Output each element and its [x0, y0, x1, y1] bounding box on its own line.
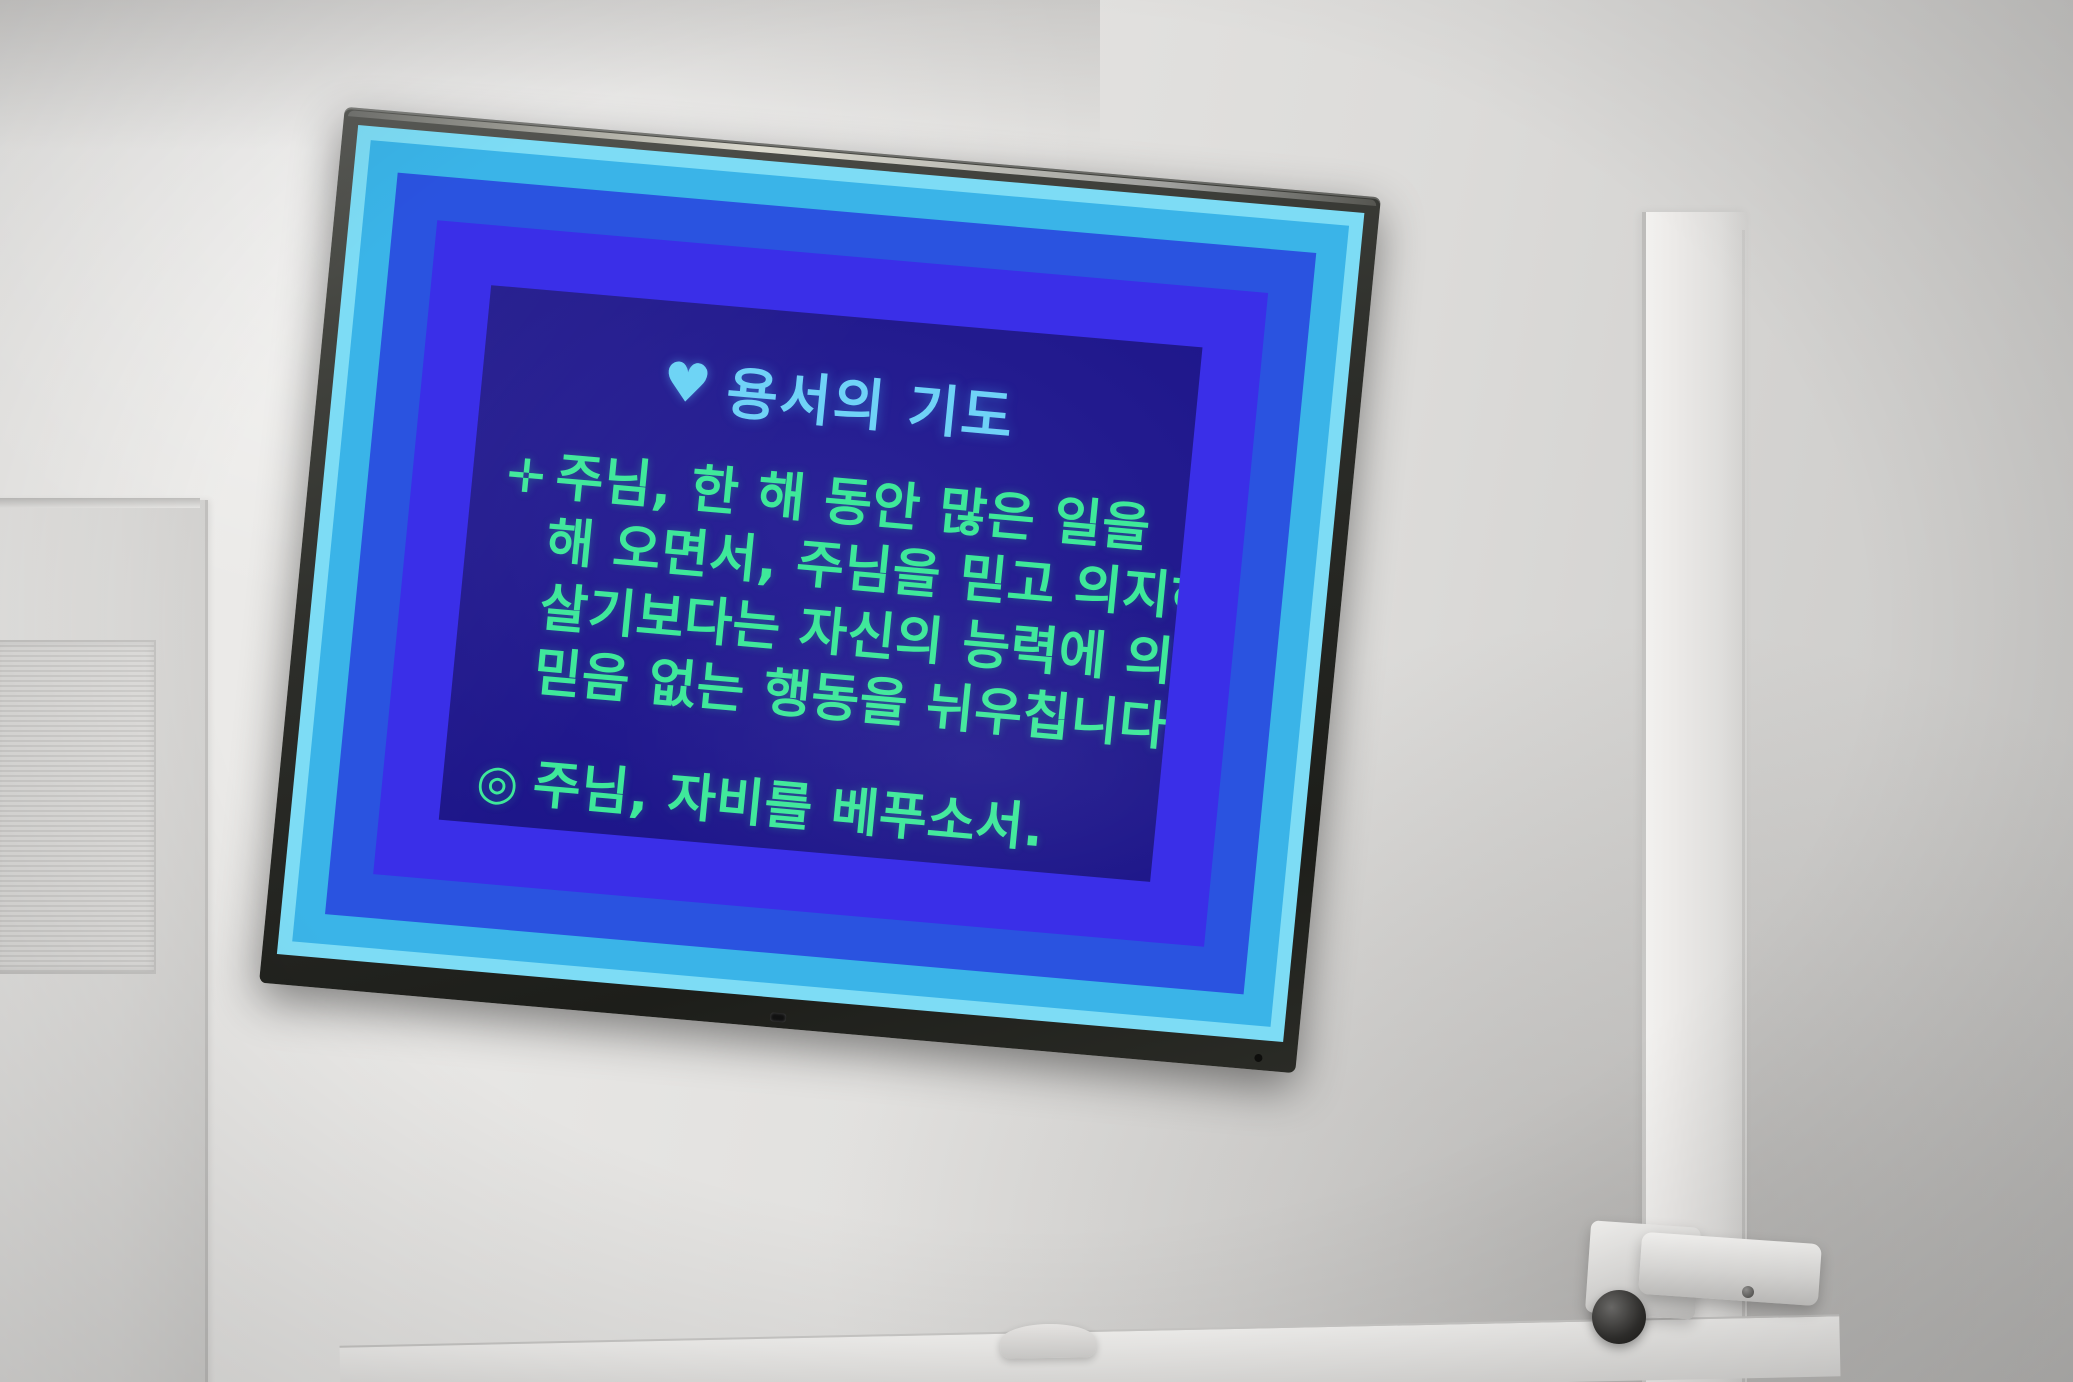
wall-mount-pivot-joint: [1592, 1290, 1646, 1344]
wall-vent-grille: [0, 640, 156, 974]
right-wall-column-seam: [1642, 212, 1646, 1382]
slide-border-inner: ♥ 용서의 기도 ✛ 주님, 한 해 동안 많은 일을: [325, 173, 1316, 995]
heart-icon: ♥: [660, 354, 714, 412]
wall-mount-arm: [1638, 1232, 1822, 1306]
ir-sensor: [770, 1012, 787, 1022]
double-circle-icon: ◎: [474, 757, 521, 808]
ceiling-fixture: [1000, 1323, 1097, 1359]
room-scene: ♥ 용서의 기도 ✛ 주님, 한 해 동안 많은 일을: [0, 0, 2073, 1382]
right-wall-column: [1643, 212, 1747, 1382]
wall-mount-screw: [1742, 1286, 1754, 1298]
monitor-bezel: ♥ 용서의 기도 ✛ 주님, 한 해 동안 많은 일을: [259, 107, 1381, 1073]
monitor-screen: ♥ 용서의 기도 ✛ 주님, 한 해 동안 많은 일을: [277, 125, 1364, 1042]
power-indicator-led: [1254, 1054, 1263, 1063]
wall-mounted-monitor: ♥ 용서의 기도 ✛ 주님, 한 해 동안 많은 일을: [259, 107, 1381, 1073]
slide-title: ♥ 용서의 기도: [509, 330, 1168, 468]
right-wall-column-seam-secondary: [1742, 230, 1745, 1382]
slide-canvas: ♥ 용서의 기도 ✛ 주님, 한 해 동안 많은 일을: [439, 285, 1203, 882]
left-wall-panel-edge: [0, 498, 200, 508]
prayer-slide: ♥ 용서의 기도 ✛ 주님, 한 해 동안 많은 일을: [439, 285, 1203, 882]
slide-border-mid: ♥ 용서의 기도 ✛ 주님, 한 해 동안 많은 일을: [292, 140, 1349, 1027]
slide-border-innermost: ♥ 용서의 기도 ✛ 주님, 한 해 동안 많은 일을: [373, 220, 1268, 947]
slide-title-text: 용서의 기도: [723, 348, 1019, 454]
cross-icon: ✛: [505, 451, 548, 500]
